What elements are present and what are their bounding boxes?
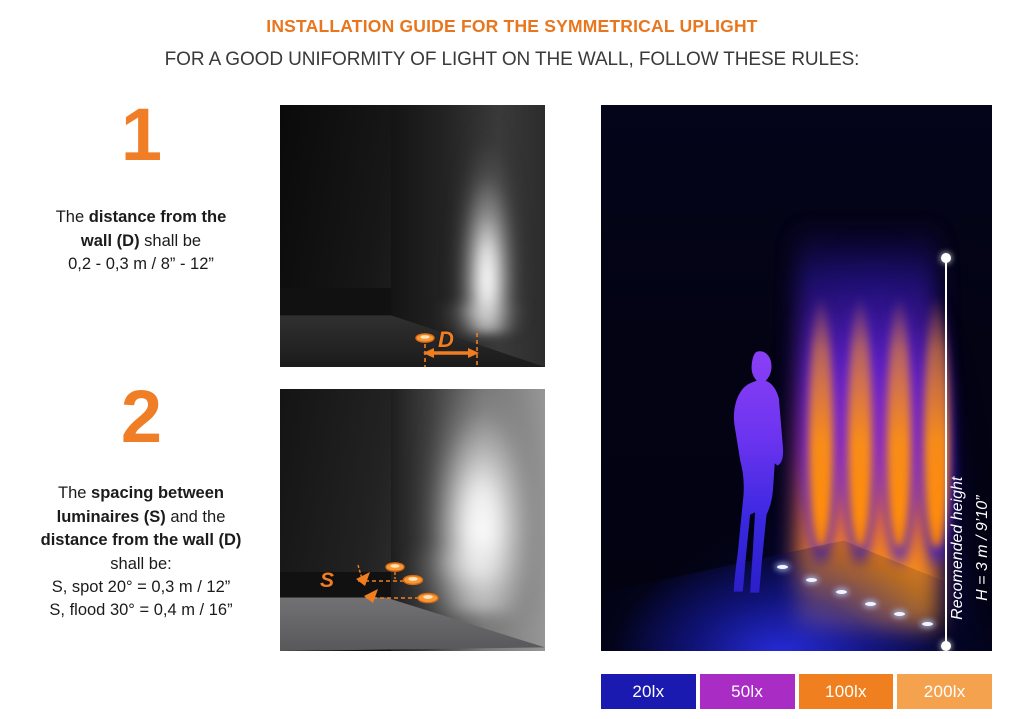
rule-text-plain: and the [166,508,226,526]
rule-text-line: luminaires (S) and the [8,506,274,529]
legend-label: 200lx [924,682,966,702]
header: INSTALLATION GUIDE FOR THE SYMMETRICAL U… [0,0,1024,71]
rule-text-line: shall be: [8,553,274,576]
rule-text-plain: S, flood 30° = 0,4 m / 16” [49,601,232,619]
rule-text-plain: shall be [140,232,201,250]
photo-spacing-between-luminaires: S [280,389,545,651]
light-distribution-simulation: Recomended height H = 3 m / 9’10” [601,105,992,651]
dimension-cap-bottom [941,641,951,651]
floor-light-pool [439,304,545,367]
height-label-line-2: H = 3 m / 9’10” [971,477,992,620]
rule-text-emphasis: distance from the [89,208,227,226]
recommended-height-label: Recomended height H = 3 m / 9’10” [946,477,992,620]
rule-block-2: 2 The spacing betweenluminaires (S) and … [8,382,274,623]
rule-text-plain: 0,2 - 0,3 m / 8” - 12” [68,255,214,273]
rule-text-line: S, flood 30° = 0,4 m / 16” [8,599,274,622]
distance-letter-label: D [438,327,454,353]
rule-text-line: The spacing between [8,482,274,505]
rule-text-plain: S, spot 20° = 0,3 m / 12” [52,578,231,596]
legend-swatch-20lx[interactable]: 20lx [601,674,696,709]
rule-text-plain: The [56,208,89,226]
legend-swatch-50lx[interactable]: 50lx [700,674,795,709]
page-title: INSTALLATION GUIDE FOR THE SYMMETRICAL U… [0,0,1024,37]
floor-luminaire [865,602,876,606]
rule-text-1: The distance from thewall (D) shall be0,… [8,206,274,276]
legend-label: 20lx [632,682,664,702]
rule-text-plain: The [58,484,91,502]
floor-luminaire [922,622,933,626]
rule-text-plain: shall be: [110,555,171,573]
legend-swatch-100lx[interactable]: 100lx [799,674,894,709]
rule-text-2: The spacing betweenluminaires (S) and th… [8,482,274,623]
rule-text-emphasis: wall (D) [81,232,140,250]
rule-block-1: 1 The distance from thewall (D) shall be… [8,100,274,277]
rule-text-line: 0,2 - 0,3 m / 8” - 12” [8,253,274,276]
legend-swatch-200lx[interactable]: 200lx [897,674,992,709]
wall-wash-beam [444,105,534,333]
person-silhouette [714,345,796,602]
rule-text-line: The distance from the [8,206,274,229]
rule-number-1: 1 [8,100,274,170]
rule-text-emphasis: distance from the wall (D) [41,531,242,549]
rule-text-emphasis: luminaires (S) [57,508,166,526]
rule-text-line: wall (D) shall be [8,230,274,253]
spacing-letter-label: S [320,569,334,593]
rule-text-emphasis: spacing between [91,484,224,502]
height-label-line-1: Recomended height [946,477,971,620]
photo-distance-from-wall: D [280,105,545,367]
rule-number-2: 2 [8,382,274,452]
floor-light-pool [407,551,545,651]
illuminance-legend: 20lx 50lx 100lx 200lx [601,674,992,709]
rule-text-line: S, spot 20° = 0,3 m / 12” [8,576,274,599]
page-subtitle: FOR A GOOD UNIFORMITY OF LIGHT ON THE WA… [0,37,1024,71]
rule-text-line: distance from the wall (D) [8,529,274,552]
legend-label: 100lx [825,682,867,702]
legend-label: 50lx [731,682,763,702]
